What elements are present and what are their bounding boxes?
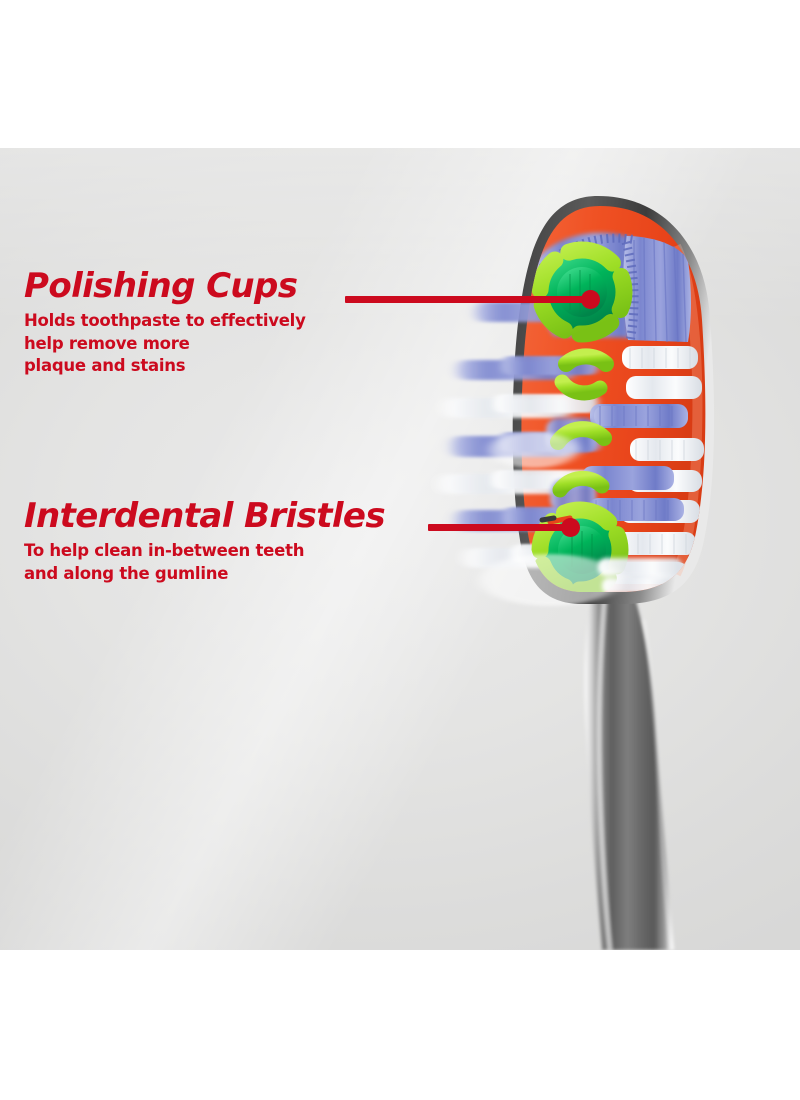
callout-polishing-cups: Polishing Cups Holds toothpaste to effec…: [24, 266, 306, 378]
leader-dot-interdental-bristles: [561, 518, 580, 537]
callout-title-polishing-cups: Polishing Cups: [24, 266, 306, 306]
leader-line-interdental-bristles: [428, 524, 572, 531]
product-infographic: Polishing Cups Holds toothpaste to effec…: [0, 0, 800, 1100]
callout-body-interdental-bristles: To help clean in-between teeth and along…: [24, 540, 385, 585]
leader-dot-polishing-cups: [581, 290, 600, 309]
callout-title-interdental-bristles: Interdental Bristles: [24, 496, 385, 536]
callout-body-polishing-cups: Holds toothpaste to effectively help rem…: [24, 310, 306, 378]
callout-interdental-bristles: Interdental Bristles To help clean in-be…: [24, 496, 385, 585]
leader-line-polishing-cups: [345, 296, 591, 303]
